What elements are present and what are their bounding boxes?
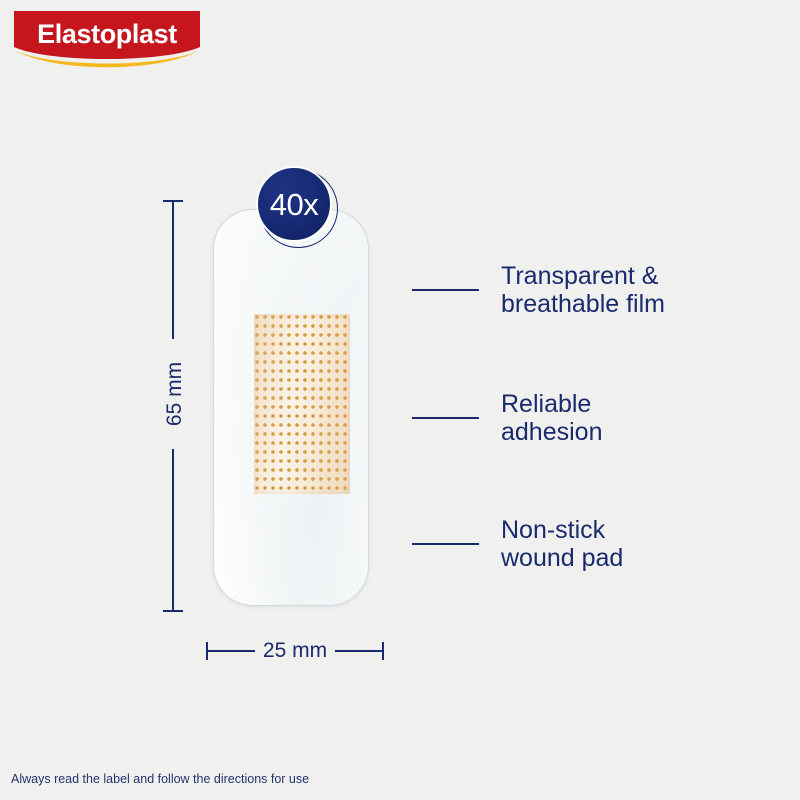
dimension-width: 25 mm [205, 638, 385, 664]
dimension-width-cap-right [382, 642, 384, 660]
feature-leader-line [412, 417, 479, 419]
dimension-width-line-right [335, 650, 383, 652]
dimension-height: 65 mm [150, 200, 200, 612]
brand-logo: Elastoplast [14, 11, 200, 73]
feature-leader-line [412, 289, 479, 291]
feature-callout-pad: Non-stick wound pad [412, 516, 623, 572]
plaster-film [213, 209, 369, 606]
disclaimer-text: Always read the label and follow the dir… [11, 772, 309, 786]
dimension-height-label: 65 mm [159, 339, 191, 449]
feature-callout-adhesion: Reliable adhesion [412, 390, 602, 446]
dimension-height-cap-bottom [163, 610, 183, 612]
feature-leader-line [412, 543, 479, 545]
wound-pad-shading [254, 314, 350, 494]
feature-label-film: Transparent & breathable film [501, 262, 665, 318]
brand-wordmark: Elastoplast [14, 11, 200, 57]
feature-callout-film: Transparent & breathable film [412, 262, 665, 318]
wound-pad [254, 314, 350, 494]
count-badge: 40x [256, 166, 338, 248]
feature-label-pad: Non-stick wound pad [501, 516, 623, 572]
dimension-height-cap-top [163, 200, 183, 202]
count-badge-label: 40x [270, 189, 318, 220]
count-badge-disc: 40x [256, 166, 332, 242]
feature-label-adhesion: Reliable adhesion [501, 390, 602, 446]
